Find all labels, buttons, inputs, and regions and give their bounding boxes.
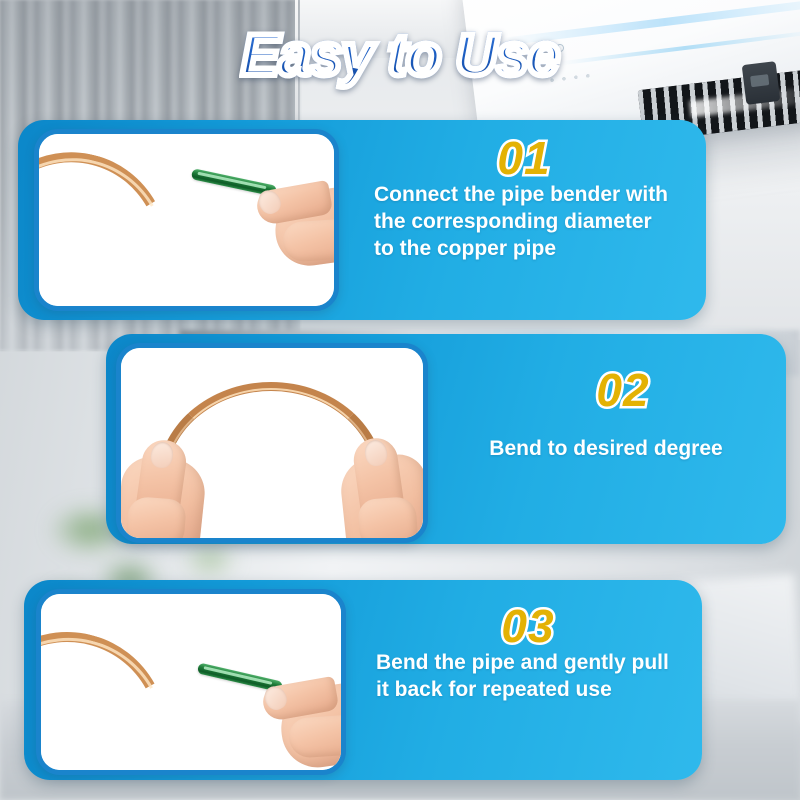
step-number-02: 02	[465, 366, 781, 414]
right-lower-finger	[357, 496, 418, 543]
page-title-text: Easy to Use	[241, 22, 559, 89]
step-photo-card-03	[36, 589, 346, 775]
step-number-01: 01	[348, 134, 700, 182]
step-photo-03	[41, 594, 341, 770]
page-title: Easy to Use	[0, 22, 800, 89]
step-description-01: Connect the pipe bender with the corresp…	[348, 182, 700, 263]
step-row-01: 01 Connect the pipe bender with the corr…	[18, 120, 706, 320]
step-number-03: 03	[354, 602, 702, 650]
middle-finger	[282, 217, 339, 263]
left-lower-finger	[125, 496, 186, 543]
step-row-03: 03 Bend the pipe and gently pull it back…	[24, 580, 702, 780]
step-number-wrap-03: 03	[354, 602, 702, 650]
step-photo-card-02	[116, 343, 428, 543]
step-content-03: 03 Bend the pipe and gently pull it back…	[354, 602, 702, 704]
step-row-02: 02 Bend to desired degree	[106, 334, 786, 544]
middle-finger	[288, 713, 346, 759]
step-content-01: 01 Connect the pipe bender with the corr…	[348, 134, 700, 263]
step-content-02: 02 Bend to desired degree	[431, 366, 781, 463]
step-description-02: Bend to desired degree	[431, 414, 781, 463]
step-photo-02	[121, 348, 423, 538]
step-description-03: Bend the pipe and gently pull it back fo…	[354, 650, 702, 704]
step-number-wrap-01: 01	[348, 134, 700, 182]
step-photo-01	[39, 134, 334, 306]
step-photo-card-01	[34, 129, 339, 311]
step-number-wrap-02: 02	[431, 366, 781, 414]
